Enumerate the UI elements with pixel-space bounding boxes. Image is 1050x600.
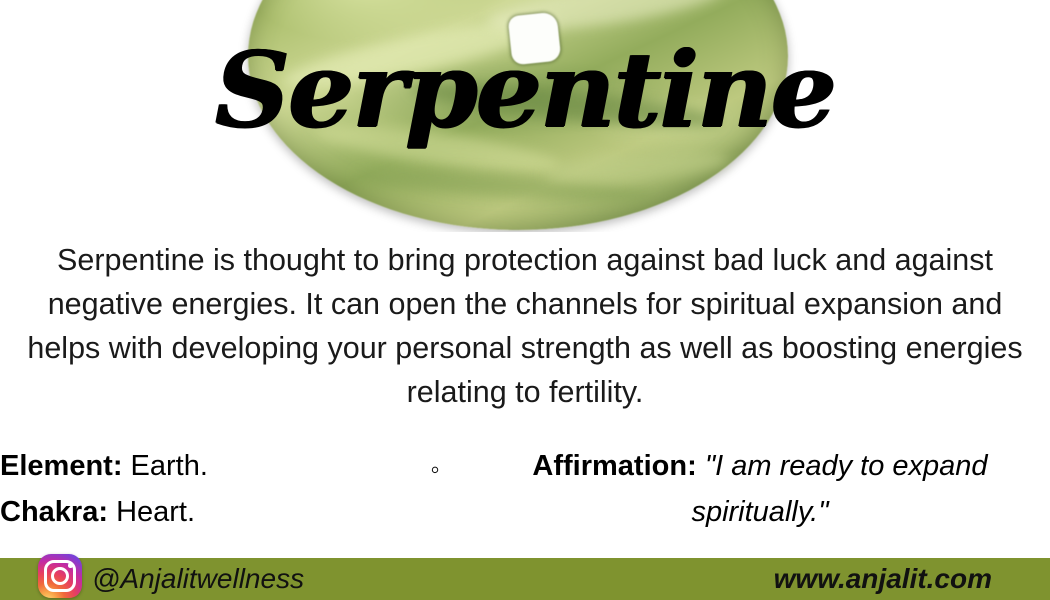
hero-section: Serpentine xyxy=(0,0,1050,232)
chakra-line: Chakra: Heart. xyxy=(0,489,410,535)
element-label: Element: xyxy=(0,450,122,482)
page-title: Serpentine xyxy=(0,0,1050,142)
instagram-flash-dot xyxy=(68,563,73,568)
website-url[interactable]: www.anjalit.com xyxy=(774,558,992,600)
affirmation-label: Affirmation: xyxy=(532,450,696,482)
chakra-label: Chakra: xyxy=(0,496,108,528)
attributes-row: Element: Earth. Chakra: Heart. ◦ Affirma… xyxy=(0,443,1050,539)
element-line: Element: Earth. xyxy=(0,443,410,489)
instagram-handle[interactable]: @Anjalitwellness xyxy=(92,558,304,600)
attributes-left-column: Element: Earth. Chakra: Heart. xyxy=(0,443,410,535)
affirmation-value: "I am ready to expand spiritually." xyxy=(691,450,987,528)
affirmation-block: Affirmation: "I am ready to expand spiri… xyxy=(470,443,1050,535)
footer-bar: @Anjalitwellness www.anjalit.com xyxy=(0,558,1050,600)
element-value: Earth. xyxy=(131,450,208,482)
chakra-value: Heart. xyxy=(116,496,195,528)
instagram-icon[interactable] xyxy=(38,554,82,598)
instagram-lens xyxy=(51,567,69,585)
stone-description: Serpentine is thought to bring protectio… xyxy=(24,238,1026,414)
circle-bullet-icon: ◦ xyxy=(424,446,446,492)
